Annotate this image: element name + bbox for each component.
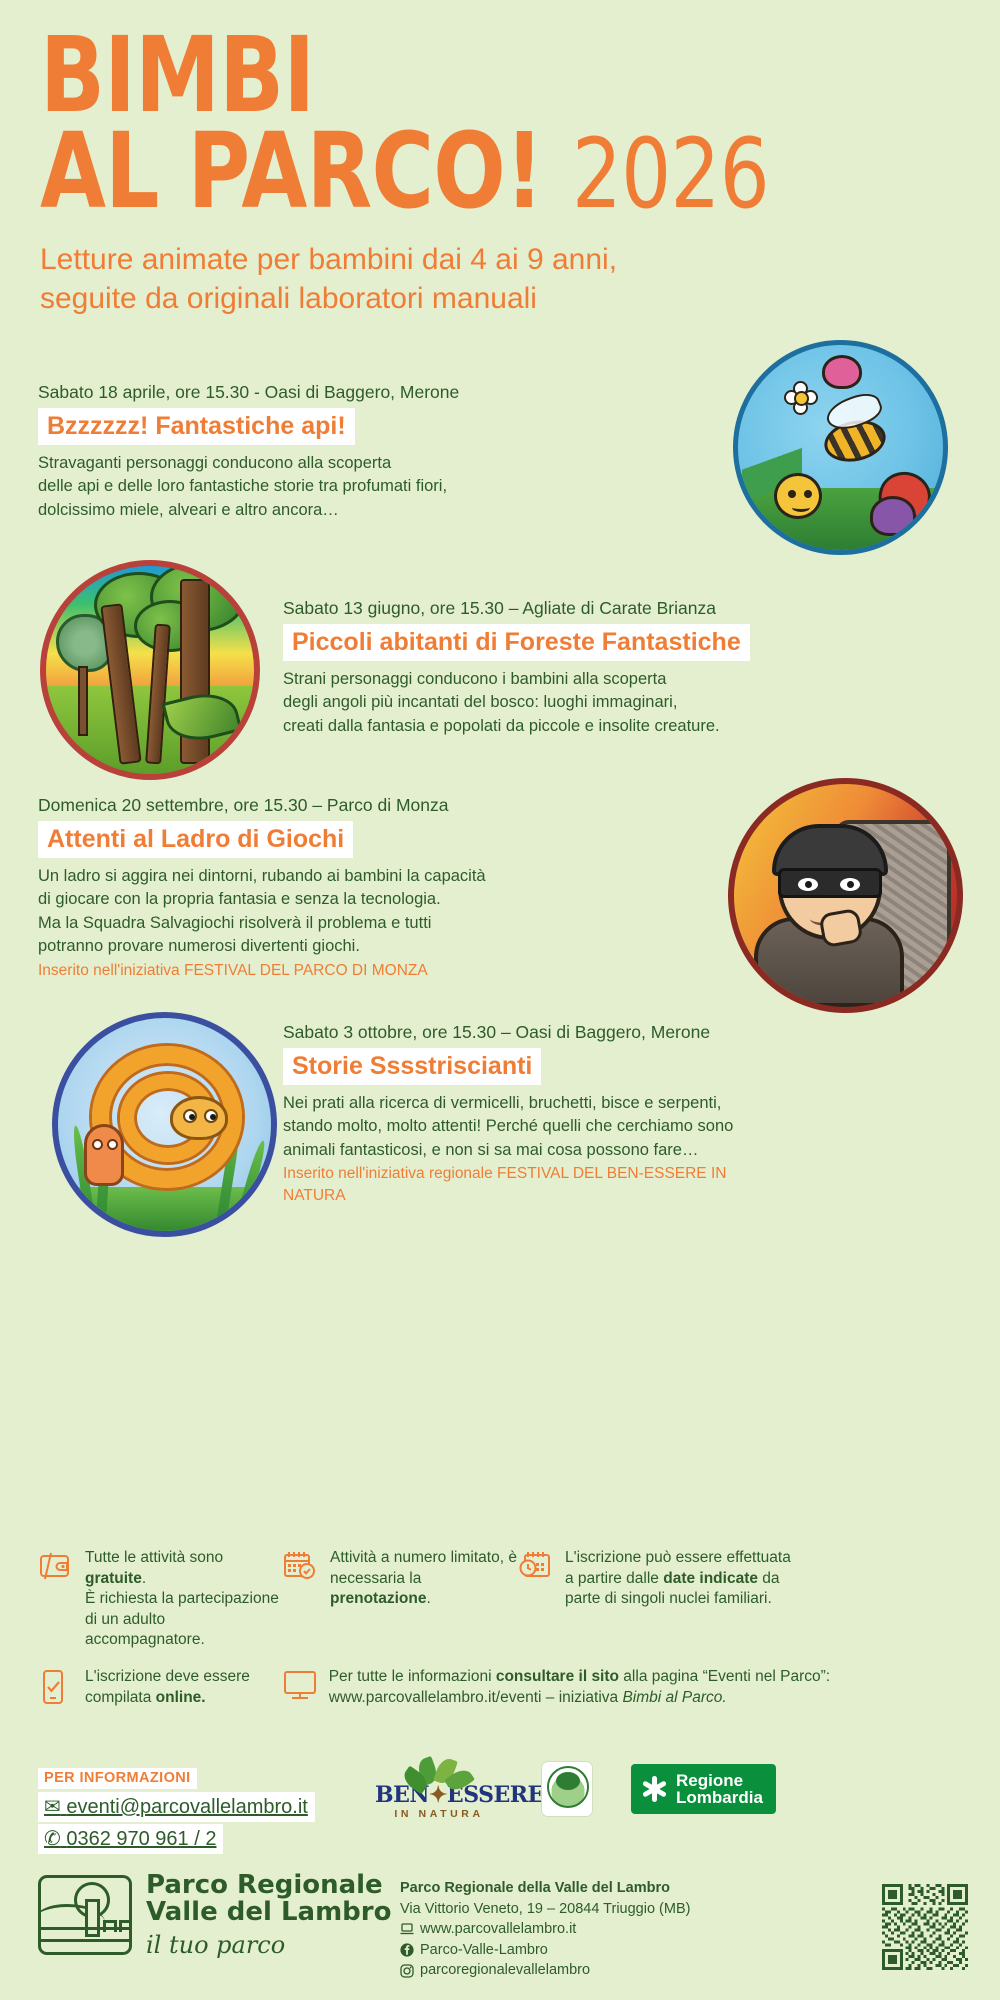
benessere-in-natura-logo: BEN✦ESSERE IN NATURA (375, 1758, 503, 1820)
event-date: Sabato 18 aprile, ore 15.30 - Oasi di Ba… (38, 382, 508, 403)
org-website-text: www.parcovallelambro.it (420, 1919, 576, 1940)
org-facebook[interactable]: Parco-Valle-Lambro (400, 1940, 690, 1961)
org-instagram-text: parcoregionalevallelambro (420, 1960, 590, 1981)
subtitle-line-1: Letture animate per bambini dai 4 ai 9 a… (40, 241, 1000, 279)
benessere-tagline: IN NATURA (375, 1808, 503, 1820)
sistema-parchi-logo (541, 1761, 593, 1817)
event-note: Inserito nell'iniziativa FESTIVAL DEL PA… (38, 960, 538, 982)
event-block-2: Sabato 13 giugno, ore 15.30 – Agliate di… (283, 598, 763, 738)
park-logo: Parco Regionale Valle del Lambro il tuo … (38, 1872, 391, 1959)
page-title: BIMBI AL PARCO! 2026 (40, 28, 827, 219)
event-block-3: Domenica 20 settembre, ore 15.30 – Parco… (38, 795, 538, 981)
thief-circle-illustration (728, 778, 963, 1013)
info-text: L'iscrizione può essere effettuataa part… (565, 1548, 791, 1610)
title-year: 2026 (572, 118, 769, 230)
poster-header: BIMBI AL PARCO! 2026 Letture animate per… (0, 0, 1000, 318)
worm-shape (84, 1124, 124, 1186)
park-name-line-2: Valle del Lambro (146, 1899, 391, 1926)
snake-circle-illustration (52, 1012, 277, 1237)
phone-icon: ✆ (44, 1828, 61, 1850)
contact-email[interactable]: ✉ eventi@parcovallelambro.it (38, 1792, 315, 1822)
monitor-icon (282, 1667, 320, 1701)
event-date: Sabato 3 ottobre, ore 15.30 – Oasi di Ba… (283, 1022, 783, 1043)
purple-flower-shape (870, 496, 916, 536)
poster-subtitle: Letture animate per bambini dai 4 ai 9 a… (40, 241, 1000, 318)
palm-trunk-shape (78, 666, 88, 736)
bee-face-shape (774, 473, 822, 519)
org-name: Parco Regionale della Valle del Lambro (400, 1878, 690, 1899)
event-description: Stravaganti personaggi conducono alla sc… (38, 452, 508, 522)
white-flower-shape (784, 381, 818, 415)
event-description: Nei prati alla ricerca di vermicelli, br… (283, 1092, 783, 1162)
benessere-wordmark: BEN✦ESSERE (375, 1784, 503, 1806)
event-description: Un ladro si aggira nei dintorni, rubando… (38, 865, 538, 959)
info-notes-section: Tutte le attività sono gratuite.È richie… (38, 1548, 968, 1708)
laptop-icon (400, 1923, 414, 1935)
instagram-icon (400, 1964, 414, 1978)
footer-address-block: Parco Regionale della Valle del Lambro V… (400, 1878, 690, 1981)
info-text: L'iscrizione deve esserecompilata online… (85, 1667, 250, 1708)
facebook-icon (400, 1943, 414, 1957)
event-description: Strani personaggi conducono i bambini al… (283, 668, 763, 738)
info-item-prenotazione: Attività a numero limitato, ènecessaria … (283, 1548, 518, 1651)
calendar-check-icon (283, 1548, 321, 1580)
info-item-sito: Per tutte le informazioni consultare il … (282, 1667, 968, 1708)
pink-flower-shape (822, 355, 862, 389)
info-item-online: L'iscrizione deve esserecompilata online… (38, 1667, 282, 1708)
rose-camuna-icon (641, 1776, 667, 1802)
event-block-4: Sabato 3 ottobre, ore 15.30 – Oasi di Ba… (283, 1022, 783, 1207)
contact-phone[interactable]: ✆ 0362 970 961 / 2 (38, 1824, 223, 1854)
subtitle-line-2: seguite da originali laboratori manuali (40, 280, 1000, 318)
park-logo-mark-icon (38, 1875, 132, 1955)
mobile-check-icon (38, 1667, 76, 1705)
info-item-gratuite: Tutte le attività sono gratuite.È richie… (38, 1548, 283, 1651)
park-name-line-1: Parco Regionale (146, 1872, 391, 1899)
park-tagline: il tuo parco (146, 1931, 391, 1959)
contact-heading: PER INFORMAZIONI (38, 1768, 197, 1789)
snake-head-shape (170, 1096, 228, 1140)
leaves-icon (375, 1758, 503, 1784)
forest-circle-illustration (40, 560, 260, 780)
org-address: Via Vittorio Veneto, 19 – 20844 Triuggio… (400, 1899, 690, 1920)
regione-lombardia-logo: Regione Lombardia (631, 1764, 776, 1815)
bee-circle-illustration (733, 340, 948, 555)
info-item-date-indicate: L'iscrizione può essere effettuataa part… (518, 1548, 958, 1651)
contact-phone-text: 0362 970 961 / 2 (66, 1828, 216, 1850)
envelope-icon: ✉ (44, 1796, 61, 1818)
event-date: Sabato 13 giugno, ore 15.30 – Agliate di… (283, 598, 763, 619)
title-line-2: AL PARCO! 2026 (40, 124, 827, 220)
poster-root: BIMBI AL PARCO! 2026 Letture animate per… (0, 0, 1000, 2000)
event-title: Storie Sssstriscianti (283, 1048, 541, 1085)
event-date: Domenica 20 settembre, ore 15.30 – Parco… (38, 795, 538, 816)
event-title: Bzzzzzz! Fantastiche api! (38, 408, 355, 445)
qr-code[interactable] (882, 1884, 968, 1970)
info-text: Tutte le attività sono gratuite.È richie… (85, 1548, 283, 1651)
wallet-free-icon (38, 1548, 76, 1580)
org-instagram[interactable]: parcoregionalevallelambro (400, 1960, 690, 1981)
info-text: Per tutte le informazioni consultare il … (329, 1667, 830, 1708)
contact-block: PER INFORMAZIONI ✉ eventi@parcovallelamb… (38, 1768, 315, 1856)
thief-mask-shape (778, 868, 882, 898)
calendar-clock-icon (518, 1548, 556, 1580)
event-title: Piccoli abitanti di Foreste Fantastiche (283, 624, 750, 661)
partner-logos: BEN✦ESSERE IN NATURA Regione Lombardia (375, 1758, 776, 1820)
org-website[interactable]: www.parcovallelambro.it (400, 1919, 690, 1940)
regione-wordmark: Regione Lombardia (676, 1772, 763, 1807)
event-note: Inserito nell'iniziativa regionale FESTI… (283, 1163, 783, 1206)
info-text: Attività a numero limitato, ènecessaria … (330, 1548, 518, 1610)
park-logo-text: Parco Regionale Valle del Lambro il tuo … (146, 1872, 391, 1959)
contact-email-text: eventi@parcovallelambro.it (66, 1796, 308, 1818)
event-block-1: Sabato 18 aprile, ore 15.30 - Oasi di Ba… (38, 382, 508, 522)
event-title: Attenti al Ladro di Giochi (38, 821, 353, 858)
org-facebook-text: Parco-Valle-Lambro (420, 1940, 548, 1961)
